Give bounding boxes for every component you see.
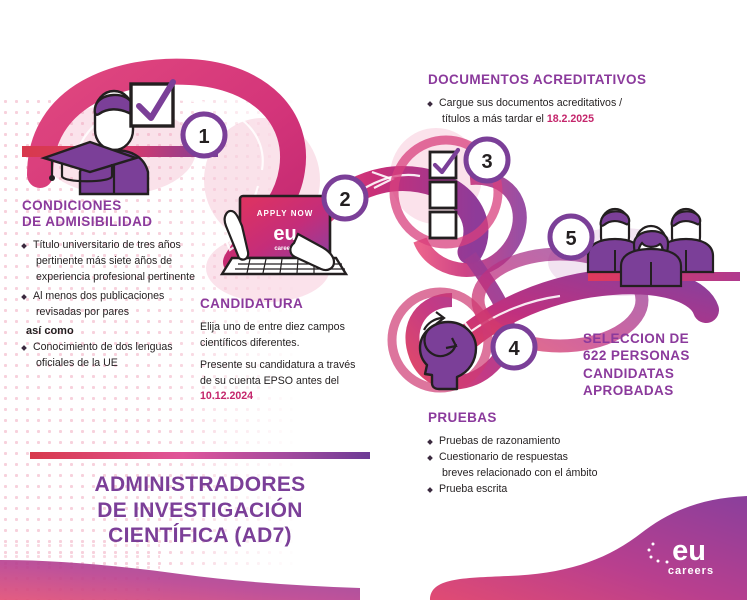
step-5-title: SELECCION DE 622 PERSONAS CANDIDATAS APR… bbox=[583, 330, 743, 399]
list-item: revisadas por pares bbox=[22, 305, 218, 320]
step-1-text: CONDICIONES DE ADMISIBILIDAD Título univ… bbox=[22, 198, 218, 372]
people-group-icon bbox=[588, 209, 740, 286]
list-item: Pruebas de razonamiento bbox=[428, 434, 638, 449]
step-3-bullets: Cargue sus documentos acreditativos / tí… bbox=[428, 96, 668, 127]
list-item: oficiales de la UE bbox=[22, 356, 218, 371]
svg-text:3: 3 bbox=[481, 151, 492, 173]
step-4-text: PRUEBAS Pruebas de razonamiento Cuestion… bbox=[428, 410, 638, 498]
step-3-title: DOCUMENTOS ACREDITATIVOS bbox=[428, 72, 668, 88]
svg-text:APPLY NOW: APPLY NOW bbox=[257, 209, 314, 218]
svg-text:eu: eu bbox=[273, 223, 296, 245]
step-badge-1: 1 bbox=[183, 114, 225, 156]
eu-careers-logo-mark: eu careers bbox=[643, 532, 729, 578]
list-item: Cargue sus documentos acreditativos / bbox=[428, 96, 668, 111]
step-4-title: PRUEBAS bbox=[428, 410, 638, 426]
step-2-title: CANDIDATURA bbox=[200, 296, 360, 312]
step-2-text: CANDIDATURA Elija uno de entre diez camp… bbox=[200, 296, 360, 411]
title-gradient-bar bbox=[30, 452, 370, 459]
step-1-bullets: Título universitario de tres años pertin… bbox=[22, 238, 218, 320]
step-1-connector: así como bbox=[26, 325, 218, 337]
step-badge-5: 5 bbox=[550, 216, 592, 258]
step-badge-3: 3 bbox=[466, 139, 508, 181]
page-title: ADMINISTRADORES DE INVESTIGACIÓN CIENTÍF… bbox=[30, 472, 370, 549]
list-item: títulos a más tardar el 18.2.2025 bbox=[428, 112, 668, 127]
bottom-wave-left bbox=[0, 560, 360, 600]
step-badge-4: 4 bbox=[493, 326, 535, 368]
list-item: Conocimiento de dos lenguas bbox=[22, 340, 218, 355]
step-1-title: CONDICIONES DE ADMISIBILIDAD bbox=[22, 198, 218, 230]
logo-careers-text: careers bbox=[668, 565, 714, 577]
step-3-text: DOCUMENTOS ACREDITATIVOS Cargue sus docu… bbox=[428, 72, 668, 128]
step-1-bullets-secondary: Conocimiento de dos lenguas oficiales de… bbox=[22, 340, 218, 371]
step-4-bullets: Pruebas de razonamiento Cuestionario de … bbox=[428, 434, 638, 497]
logo-eu-text: eu bbox=[672, 535, 706, 567]
step-5-text: SELECCION DE 622 PERSONAS CANDIDATAS APR… bbox=[583, 330, 743, 399]
step-2-paragraph-1: Elija uno de entre diez campos científic… bbox=[200, 320, 360, 352]
list-item: Cuestionario de respuestas bbox=[428, 450, 638, 465]
step-3-deadline: 18.2.2025 bbox=[547, 113, 594, 125]
step-2-deadline: 10.12.2024 bbox=[200, 390, 253, 402]
list-item: Título universitario de tres años bbox=[22, 238, 218, 253]
checklist-icon bbox=[430, 150, 458, 238]
eu-careers-logo: eu careers bbox=[643, 532, 729, 578]
step-2-paragraph-2: Presente su candidatura a través de su c… bbox=[200, 358, 360, 406]
svg-text:2: 2 bbox=[339, 189, 350, 211]
list-item: breves relacionado con el ámbito bbox=[428, 466, 638, 481]
list-item: Al menos dos publicaciones bbox=[22, 289, 218, 304]
svg-text:1: 1 bbox=[198, 126, 209, 148]
list-item: Prueba escrita bbox=[428, 482, 638, 497]
list-item: experiencia profesional pertinente bbox=[22, 270, 218, 285]
svg-text:5: 5 bbox=[565, 228, 576, 250]
svg-text:4: 4 bbox=[508, 338, 520, 360]
infographic-canvas: 1 APPLY NOW eu careers bbox=[0, 0, 747, 600]
list-item: pertinente más siete años de bbox=[22, 254, 218, 269]
step-badge-2: 2 bbox=[324, 177, 366, 219]
page-title-block: ADMINISTRADORES DE INVESTIGACIÓN CIENTÍF… bbox=[30, 452, 370, 549]
